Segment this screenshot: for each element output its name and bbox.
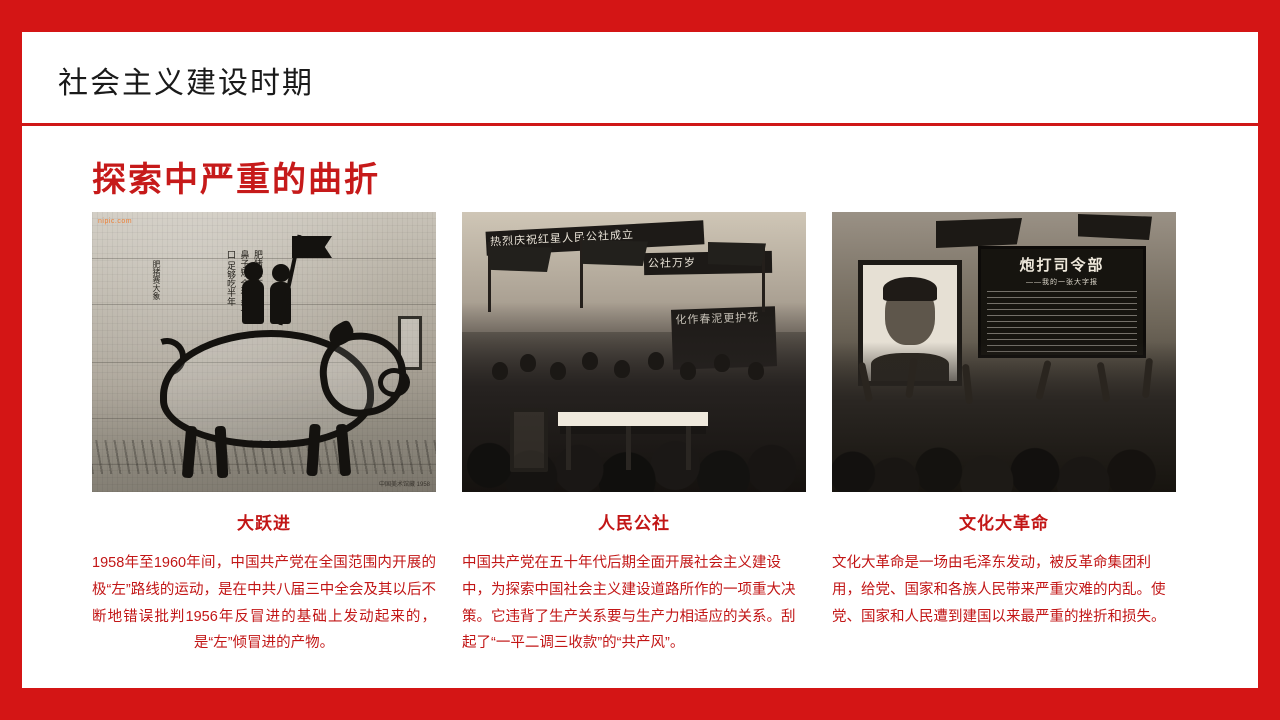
flag-icon — [1078, 214, 1152, 240]
great-leap-forward-mural-photo: 肥猪赛大象 肥猪赛大象 就是鼻子短 全社杀一口 足够吃半年 — [92, 212, 436, 492]
person-head — [614, 360, 630, 378]
column-body-text: 1958年至1960年间，中国共产党在全国范围内开展的极“左”路线的运动，是在中… — [92, 550, 436, 657]
column-peoples-commune: 热烈庆祝红星人民公社成立 公社万岁 化作春泥更护花 — [462, 212, 806, 657]
poster-title: 炮打司令部 — [987, 254, 1137, 275]
person-head — [680, 362, 696, 380]
mural-side-inscription: 肥猪赛大象 — [132, 260, 162, 332]
person-head — [550, 362, 566, 380]
slide: 社会主义建设时期 探索中严重的曲折 肥猪赛大象 肥猪赛大象 就是鼻子短 全社杀一… — [0, 0, 1280, 720]
person-head — [520, 354, 536, 372]
flag-icon — [708, 242, 766, 266]
column-caption: 文化大革命 — [832, 509, 1176, 534]
section-heading: 探索中严重的曲折 — [92, 152, 380, 201]
mural-grass — [92, 440, 436, 474]
poster-subtitle: ——我的一张大字报 — [987, 277, 1137, 287]
meeting-table — [558, 412, 708, 426]
chair — [510, 408, 548, 472]
page-title: 社会主义建设时期 — [58, 58, 314, 102]
flag-icon — [490, 246, 552, 272]
rider-figure — [242, 280, 264, 324]
column-caption: 大跃进 — [92, 509, 436, 534]
cultural-revolution-rally-photo: 炮打司令部 ——我的一张大字报 — [832, 212, 1176, 492]
peoples-commune-rally-photo: 热烈庆祝红星人民公社成立 公社万岁 化作春泥更护花 — [462, 212, 806, 492]
column-cultural-revolution: 炮打司令部 ——我的一张大字报 文化大革命 文化大革命是一场由毛泽东发动，被反革… — [832, 212, 1176, 657]
portrait-hair — [883, 277, 937, 301]
column-great-leap-forward: 肥猪赛大象 肥猪赛大象 就是鼻子短 全社杀一口 足够吃半年 — [92, 212, 436, 657]
person-head — [648, 352, 664, 370]
watermark-top-text: nipic.com — [98, 218, 132, 225]
column-caption: 人民公社 — [462, 509, 806, 534]
crowd-silhouette — [832, 342, 1176, 492]
slide-header: 社会主义建设时期 — [22, 32, 1258, 126]
person-head — [748, 362, 764, 380]
pig-snout — [378, 368, 410, 397]
person-head — [582, 352, 598, 370]
watermark-bottom-text: 中国美术馆藏 1958 — [379, 479, 430, 488]
flag-icon — [936, 218, 1022, 248]
person-head — [714, 354, 730, 372]
person-head — [492, 362, 508, 380]
column-body-text: 文化大革命是一场由毛泽东发动，被反革命集团利用，给党、国家和各族人民带来严重灾难… — [832, 550, 1176, 630]
flag-icon — [582, 240, 648, 266]
rider-head — [244, 262, 263, 281]
content-columns: 肥猪赛大象 肥猪赛大象 就是鼻子短 全社杀一口 足够吃半年 — [92, 212, 1192, 657]
slide-content-panel: 社会主义建设时期 探索中严重的曲折 肥猪赛大象 肥猪赛大象 就是鼻子短 全社杀一… — [22, 32, 1258, 688]
column-body-text: 中国共产党在五十年代后期全面开展社会主义建设中，为探索中国社会主义建设道路所作的… — [462, 550, 806, 657]
wall-brick-line — [92, 258, 436, 259]
table-legs — [566, 426, 696, 470]
